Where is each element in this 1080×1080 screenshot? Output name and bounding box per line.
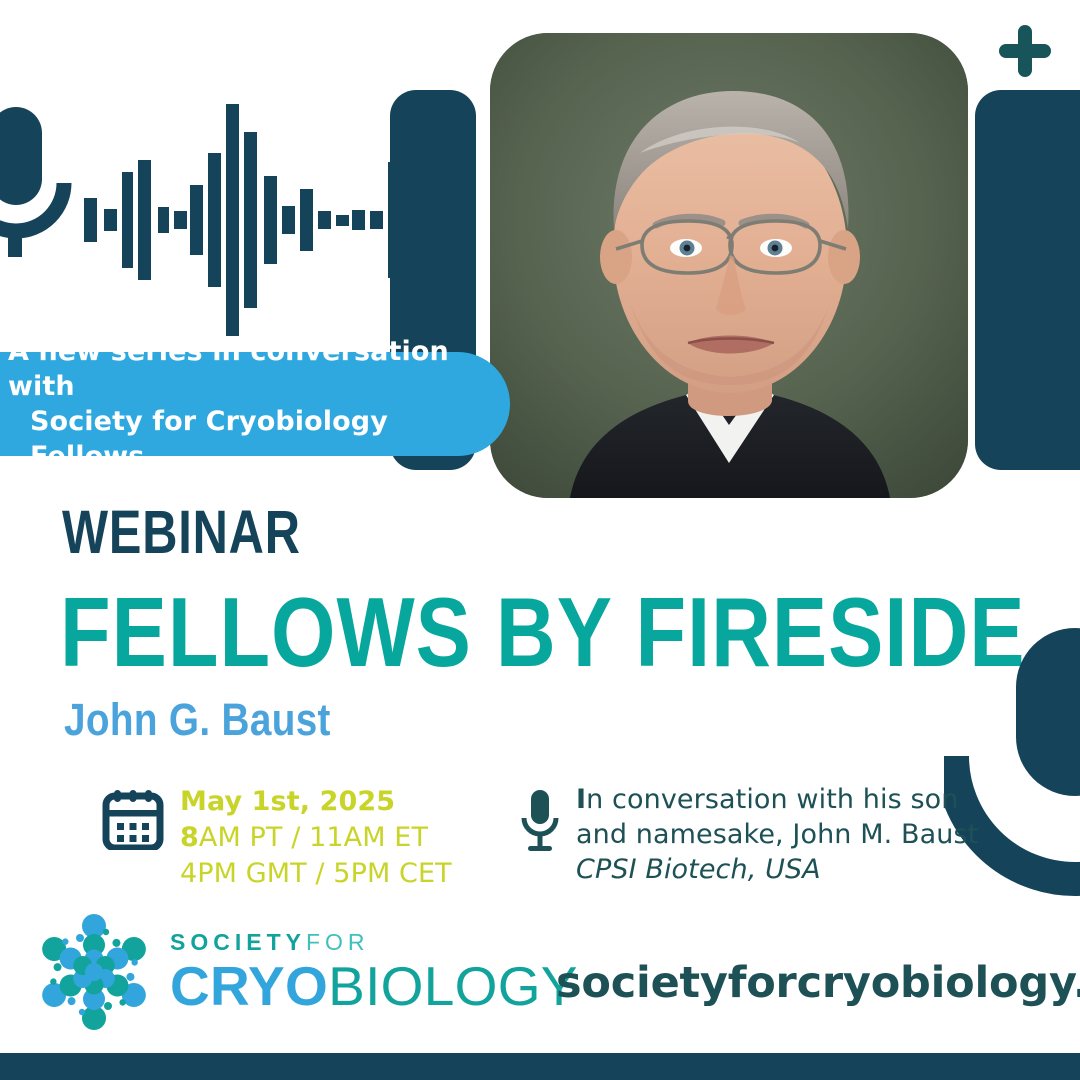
conversation-line-1: In conversation with his son: [576, 782, 978, 817]
banner-line-1: A new series in conversation with: [8, 334, 510, 404]
bottom-bar: [0, 1053, 1080, 1080]
decorative-panel-right: [975, 90, 1080, 470]
speaker-portrait: [490, 33, 968, 498]
event-time-line-1: 8AM PT / 11AM ET: [180, 820, 452, 856]
event-time-zones-1: AM PT / 11AM ET: [199, 822, 428, 853]
date-time-block: May 1st, 2025 8AM PT / 11AM ET 4PM GMT /…: [102, 784, 452, 892]
plus-icon: [996, 22, 1054, 80]
conversation-lead-letter: I: [576, 784, 586, 815]
webinar-kicker: WEBINAR: [62, 502, 301, 563]
microphone-icon: [520, 788, 560, 860]
microphone-waveform-icon: [0, 95, 400, 355]
conversation-line-2: and namesake, John M. Baust: [576, 817, 978, 852]
page-title: FELLOWS BY FIRESIDE: [60, 583, 1026, 681]
snowflake-icon: [28, 906, 160, 1038]
event-time-hour: 8: [180, 822, 199, 853]
conversation-line-1-rest: n conversation with his son: [586, 784, 958, 815]
website-url[interactable]: societyforcryobiology.org: [556, 962, 1080, 1005]
speaker-name: John G. Baust: [64, 697, 331, 742]
logo-word-biology: BIOLOGY: [328, 955, 578, 1017]
poster-canvas: A new series in conversation with Societ…: [0, 0, 1080, 1080]
logo-word-for: FOR: [306, 929, 370, 955]
event-time-line-2: 4PM GMT / 5PM CET: [180, 856, 452, 892]
banner-line-2: Society for Cryobiology Fellows: [8, 404, 510, 474]
calendar-icon: [102, 788, 164, 850]
series-banner: A new series in conversation with Societ…: [0, 352, 510, 456]
logo-word-society: SOCIETY: [170, 929, 306, 955]
conversation-block: In conversation with his son and namesak…: [520, 782, 978, 887]
conversation-affiliation: CPSI Biotech, USA: [576, 852, 978, 887]
logo-word-cryo: CRYO: [170, 955, 328, 1017]
event-date: May 1st, 2025: [180, 784, 452, 820]
society-logo: SOCIETYFOR CRYOBIOLOGY: [28, 906, 578, 1038]
